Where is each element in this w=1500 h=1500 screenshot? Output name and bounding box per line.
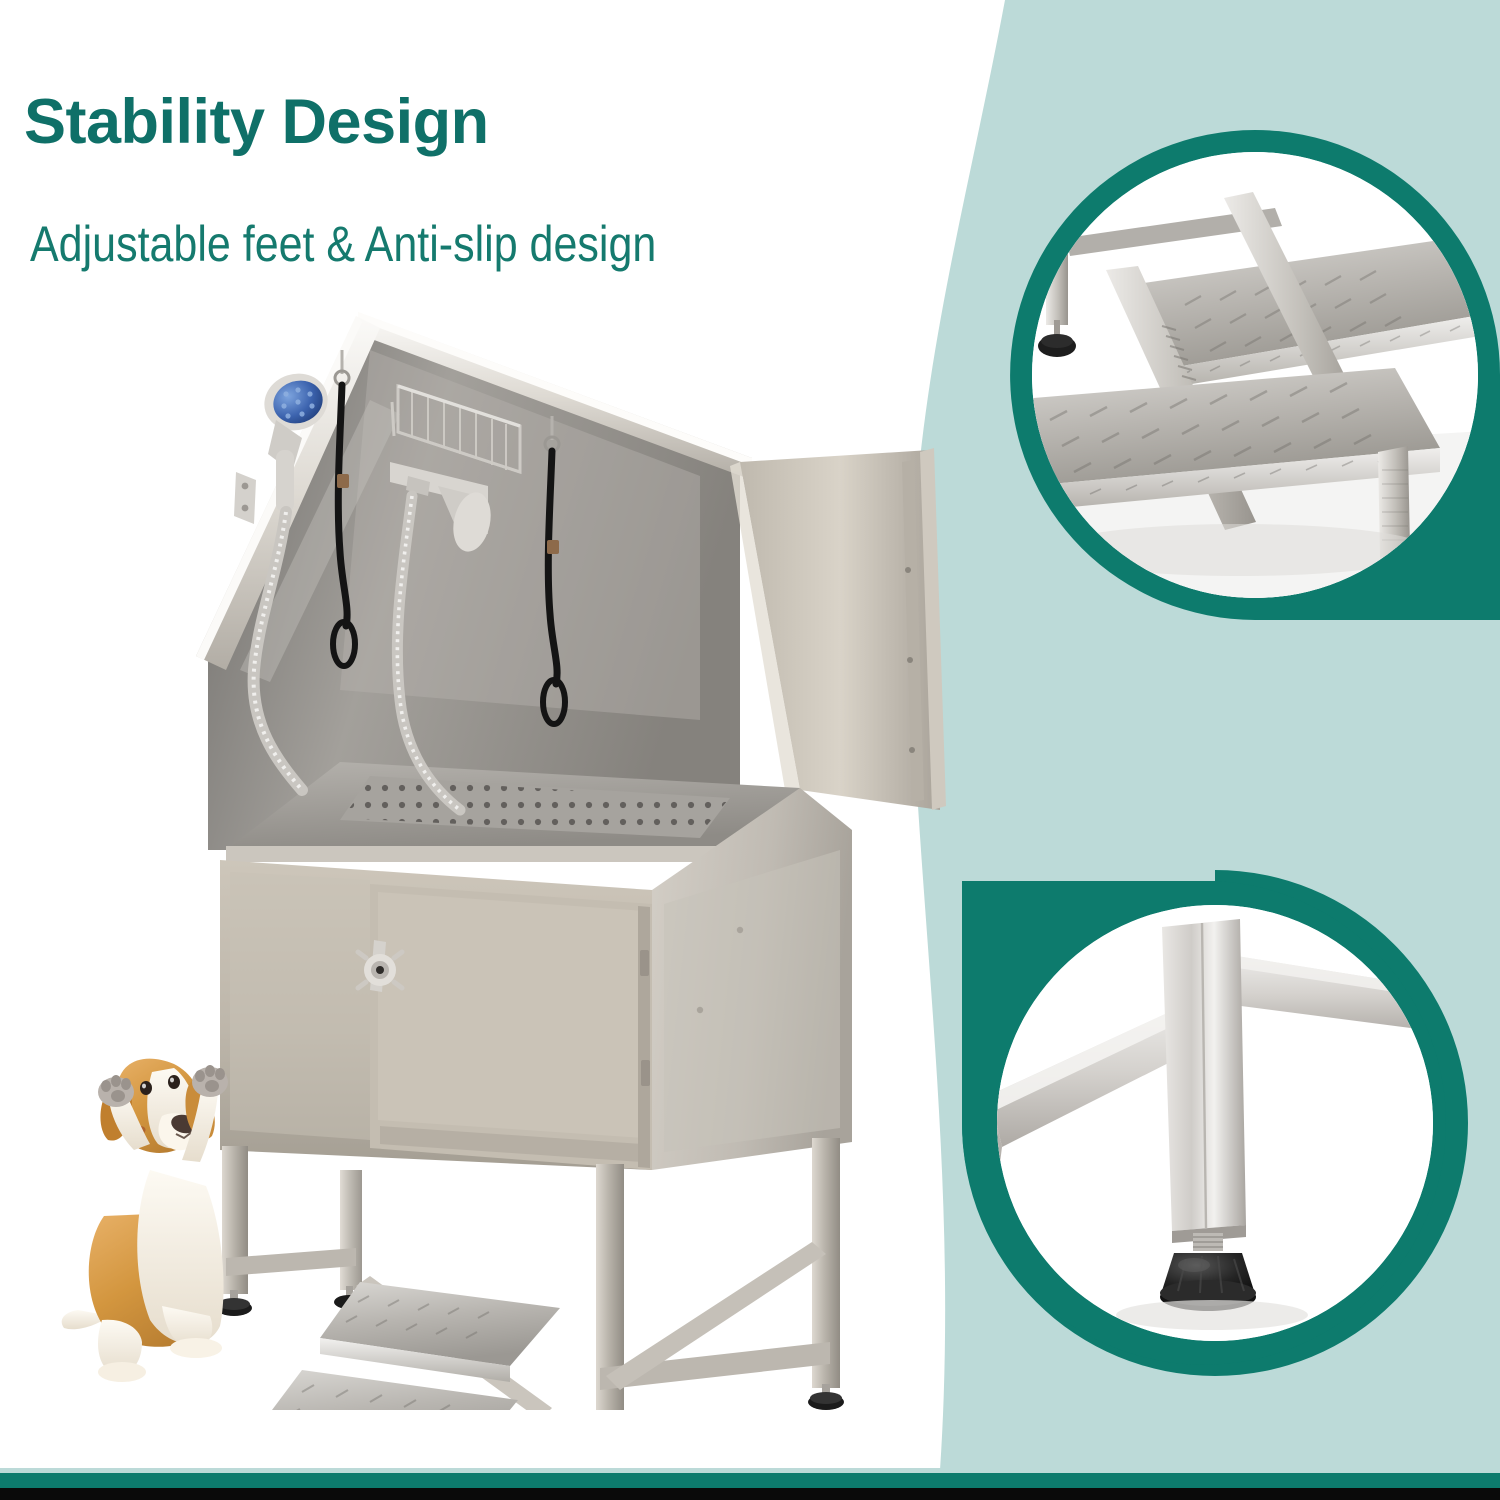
page-subtitle: Adjustable feet & Anti-slip design [30, 215, 656, 273]
hinge-bottom [641, 1060, 650, 1086]
beagle-dog [58, 1020, 328, 1390]
page-title: Stability Design [24, 86, 489, 158]
footer-dark-bar [0, 1488, 1500, 1500]
step-top [320, 1282, 560, 1382]
hinged-side-door [730, 448, 946, 810]
dog-front-paw-down [170, 1338, 222, 1358]
leg-rear-left [340, 1170, 362, 1290]
footer-teal-bar [0, 1473, 1500, 1488]
dog-eye-left [140, 1081, 152, 1095]
shower-bracket [234, 472, 256, 524]
rivet [697, 1007, 703, 1013]
leg-post [1162, 919, 1246, 1243]
hinge-top [640, 950, 649, 976]
inset-anti-slip-steps [1010, 130, 1500, 650]
cabinet-door[interactable] [370, 884, 652, 1170]
inset-adjustable-foot [950, 845, 1480, 1385]
dog-rear-paw [98, 1362, 146, 1382]
dog-eye-right [168, 1075, 180, 1089]
rivet [737, 927, 743, 933]
